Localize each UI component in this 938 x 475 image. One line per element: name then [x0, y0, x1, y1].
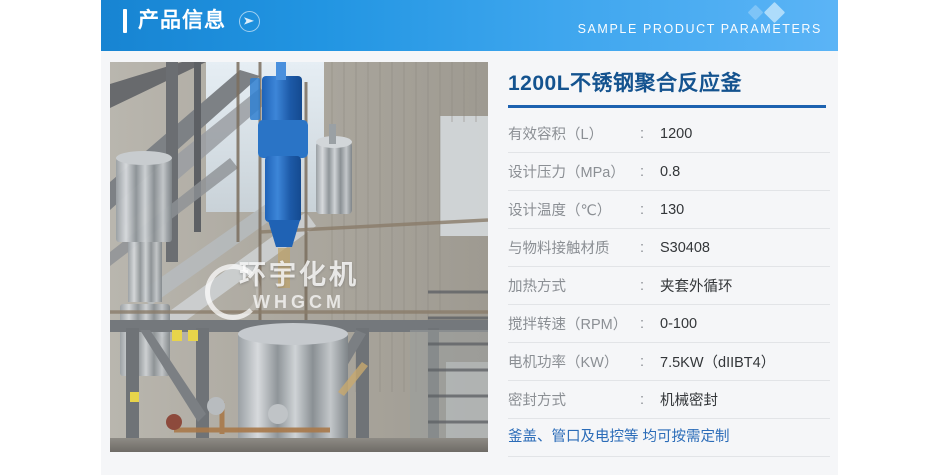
- header-subtitle-group: SAMPLE PRODUCT PARAMETERS: [578, 4, 822, 36]
- spec-table: 有效容积（L） : 1200 设计压力（MPa） : 0.8 设计温度（℃） :…: [508, 115, 830, 457]
- spec-value: 1200: [660, 126, 692, 142]
- header-title-group: 产品信息: [123, 8, 260, 34]
- spec-row: 加热方式 : 夹套外循环: [508, 267, 830, 305]
- spec-value: 130: [660, 202, 684, 218]
- spec-label: 搅拌转速（RPM）: [508, 313, 640, 334]
- spec-label: 设计压力（MPa）: [508, 161, 640, 182]
- spec-value: 7.5KW（dIIBT4）: [660, 351, 775, 372]
- spec-column: 1200L不锈钢聚合反应釜 有效容积（L） : 1200 设计压力（MPa） :…: [508, 69, 830, 457]
- diamond-small-icon: [748, 5, 764, 21]
- spec-colon: :: [640, 278, 660, 294]
- spec-row: 设计温度（℃） : 130: [508, 191, 830, 229]
- section-subtitle: SAMPLE PRODUCT PARAMETERS: [578, 22, 822, 36]
- diamond-decoration: [578, 4, 822, 21]
- play-circle-icon[interactable]: [239, 11, 260, 32]
- spec-value: 0-100: [660, 316, 697, 332]
- spec-label: 密封方式: [508, 389, 640, 410]
- product-photo-image: [110, 62, 488, 452]
- spec-colon: :: [640, 126, 660, 142]
- spec-row: 有效容积（L） : 1200: [508, 115, 830, 153]
- customization-note: 釜盖、管口及电控等 均可按需定制: [508, 419, 830, 457]
- arrow-right-glyph: [243, 15, 256, 27]
- product-title-underline: [508, 105, 826, 108]
- content-panel: 环宇化机 WHGCM 1200L不锈钢聚合反应釜 有效容积（L） : 1200 …: [101, 51, 838, 475]
- spec-row: 设计压力（MPa） : 0.8: [508, 153, 830, 191]
- spec-label: 有效容积（L）: [508, 123, 640, 144]
- spec-label: 与物料接触材质: [508, 237, 640, 258]
- title-accent-bar: [123, 9, 127, 33]
- spec-label: 设计温度（℃）: [508, 199, 640, 220]
- spec-colon: :: [640, 164, 660, 180]
- product-title: 1200L不锈钢聚合反应釜: [508, 69, 830, 99]
- product-info-card: 产品信息 SAMPLE PRODUCT PARAMETERS: [0, 0, 938, 475]
- spec-colon: :: [640, 392, 660, 408]
- spec-value: 夹套外循环: [660, 275, 733, 296]
- spec-label: 电机功率（KW）: [508, 351, 640, 372]
- spec-colon: :: [640, 202, 660, 218]
- spec-row: 密封方式 : 机械密封: [508, 381, 830, 419]
- spec-row: 与物料接触材质 : S30408: [508, 229, 830, 267]
- spec-value: S30408: [660, 240, 710, 256]
- diamond-large-icon: [764, 2, 785, 23]
- spec-row: 搅拌转速（RPM） : 0-100: [508, 305, 830, 343]
- product-photo[interactable]: 环宇化机 WHGCM: [110, 62, 488, 452]
- spec-label: 加热方式: [508, 275, 640, 296]
- spec-colon: :: [640, 354, 660, 370]
- spec-value: 0.8: [660, 164, 680, 180]
- spec-colon: :: [640, 316, 660, 332]
- spec-colon: :: [640, 240, 660, 256]
- spec-value: 机械密封: [660, 389, 718, 410]
- section-header: 产品信息 SAMPLE PRODUCT PARAMETERS: [101, 0, 838, 51]
- section-title: 产品信息: [138, 8, 226, 34]
- spec-row: 电机功率（KW） : 7.5KW（dIIBT4）: [508, 343, 830, 381]
